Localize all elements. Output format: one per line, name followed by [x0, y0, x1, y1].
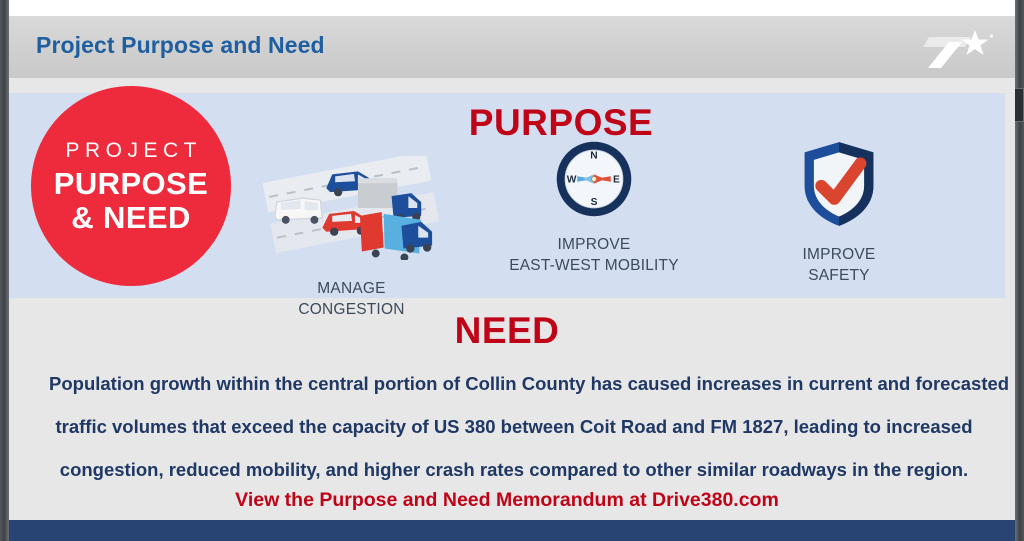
purpose-item-manage-congestion: MANAGE CONGESTION [244, 138, 459, 321]
purpose-caption: IMPROVE EAST-WEST MOBILITY [509, 235, 679, 277]
page-title: Project Purpose and Need [36, 32, 325, 59]
window-right-edge [1015, 0, 1024, 541]
need-paragraph: Population growth within the central por… [49, 362, 979, 491]
compass-icon: N S E W [553, 138, 635, 225]
svg-text:E: E [613, 175, 620, 186]
footer-bar [9, 520, 1015, 541]
need-paragraph-line: traffic volumes that exceed the capacity… [49, 405, 979, 448]
need-heading: NEED [9, 310, 1005, 352]
badge-line-2: PURPOSE [54, 168, 208, 199]
badge-line-3: & NEED [71, 202, 191, 233]
purpose-item-improve-east-west-mobility: N S E W IMPROVE EAST-WEST MOBILITY [459, 138, 729, 277]
purpose-item-improve-safety: IMPROVE SAFETY [729, 138, 949, 287]
purpose-icon-row: MANAGE CONGESTION N S E W [244, 138, 1014, 293]
window-left-edge [0, 0, 9, 541]
slide-screen: Project Purpose and Need PROJECT PURPOSE… [0, 0, 1024, 541]
slide-body: PROJECT PURPOSE & NEED PURPOSE [9, 78, 1015, 521]
purpose-heading-text: PURPOSE [469, 102, 653, 143]
purpose-caption: IMPROVE SAFETY [803, 245, 876, 287]
traffic-congestion-icon [263, 156, 441, 265]
shield-check-icon [799, 138, 879, 235]
svg-text:W: W [567, 175, 577, 186]
slide-header: Project Purpose and Need [9, 16, 1015, 78]
svg-text:S: S [591, 197, 598, 208]
need-paragraph-line: Population growth within the central por… [49, 362, 979, 405]
txdot-logo [915, 28, 995, 70]
memorandum-link[interactable]: View the Purpose and Need Memorandum at … [9, 489, 1005, 512]
need-paragraph-line: congestion, reduced mobility, and higher… [49, 448, 979, 491]
svg-text:N: N [590, 151, 597, 162]
window-top-strip [9, 0, 1015, 16]
